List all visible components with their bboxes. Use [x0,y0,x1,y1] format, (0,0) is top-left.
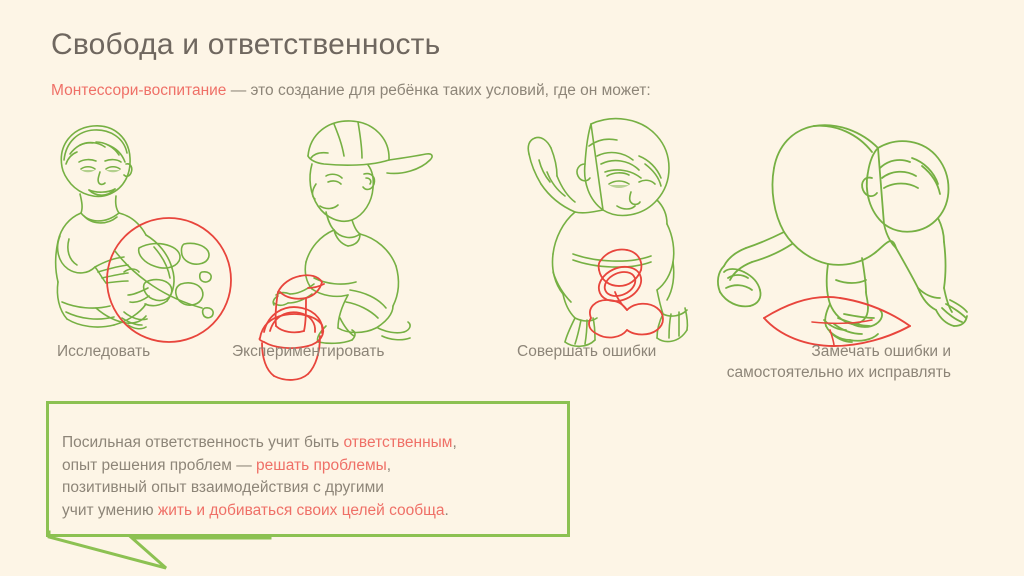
callout-line: опыт решения проблем — решать проблемы, [62,455,457,478]
callout-plain-run: , [452,434,456,451]
callout-plain-run: позитивный опыт взаимодействия с другими [62,479,384,496]
callout-accent-run: жить и добиваться своих целей сообща [158,502,445,519]
callout-tail [46,528,286,574]
child-exploring-globe-illustration [36,112,236,342]
child-wiping-floor-illustration [712,112,967,342]
slide-canvas: Свобода и ответственность Монтессори-вос… [0,0,1024,576]
caption-explore: Исследовать [57,341,150,362]
callout-box: Посильная ответственность учит быть отве… [46,401,570,537]
callout-accent-run: решать проблемы [256,457,387,474]
child-pouring-bucket-illustration [248,112,438,342]
callout-line: учит умению жить и добиваться своих целе… [62,500,457,523]
callout-accent-run: ответственным [344,434,453,451]
callout-text: Посильная ответственность учит быть отве… [62,432,457,522]
callout-line: позитивный опыт взаимодействия с другими [62,477,457,500]
callout-plain-run: , [387,457,391,474]
caption-make-mistakes: Совершать ошибки [517,341,656,362]
callout-plain-run: опыт решения проблем — [62,457,256,474]
callout-plain-run: . [445,502,449,519]
child-spilled-cup-illustration [505,112,710,342]
callout-plain-run: Посильная ответственность учит быть [62,434,344,451]
subtitle: Монтессори-воспитание — это создание для… [51,82,651,100]
page-title: Свобода и ответственность [51,28,440,62]
caption-experiment: Экспериментировать [232,341,385,362]
illustration-row [0,112,1024,342]
subtitle-accent-term: Монтессори-воспитание [51,82,226,99]
callout-line: Посильная ответственность учит быть отве… [62,432,457,455]
caption-notice-and-fix-mistakes: Замечать ошибки и самостоятельно их испр… [725,341,951,383]
callout-plain-run: учит умению [62,502,158,519]
subtitle-rest: — это создание для ребёнка таких условий… [226,82,650,99]
